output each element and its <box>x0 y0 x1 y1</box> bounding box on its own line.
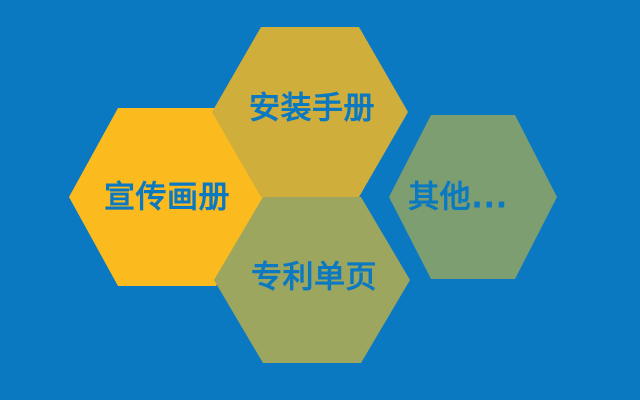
hexagon-cluster-svg: 宣传画册安装手册专利单页其他... <box>0 0 640 400</box>
diagram-canvas: 宣传画册安装手册专利单页其他... <box>0 0 640 400</box>
hexagon-label: 专利单页 <box>251 260 377 296</box>
hexagon-label: 其他... <box>408 180 508 216</box>
hexagon-label: 宣传画册 <box>104 180 230 216</box>
hexagon-label: 安装手册 <box>249 91 375 127</box>
